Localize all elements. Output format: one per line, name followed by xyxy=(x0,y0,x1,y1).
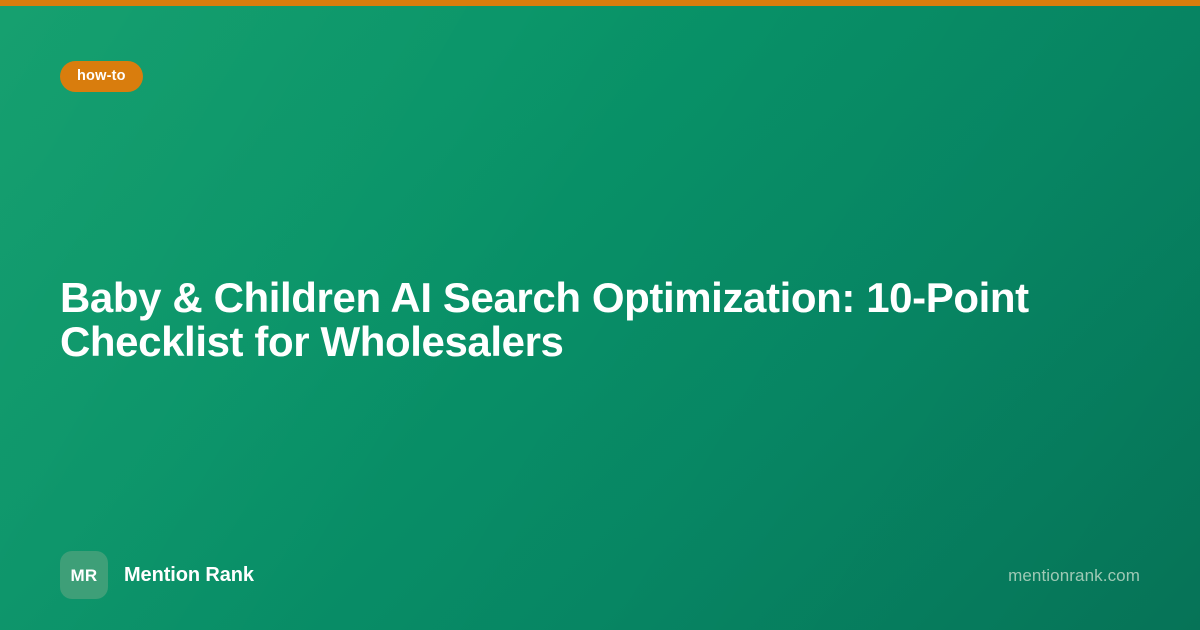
brand-name-label: Mention Rank xyxy=(124,565,254,585)
card-footer: MR Mention Rank mentionrank.com xyxy=(0,520,1200,630)
category-badge[interactable]: how-to xyxy=(60,61,143,92)
site-url-label: mentionrank.com xyxy=(1008,567,1140,584)
brand-block[interactable]: MR Mention Rank xyxy=(60,551,254,599)
top-accent-bar xyxy=(0,0,1200,6)
brand-avatar: MR xyxy=(60,551,108,599)
social-share-card: how-to Baby & Children AI Search Optimiz… xyxy=(0,0,1200,630)
page-title: Baby & Children AI Search Optimization: … xyxy=(60,276,1070,364)
